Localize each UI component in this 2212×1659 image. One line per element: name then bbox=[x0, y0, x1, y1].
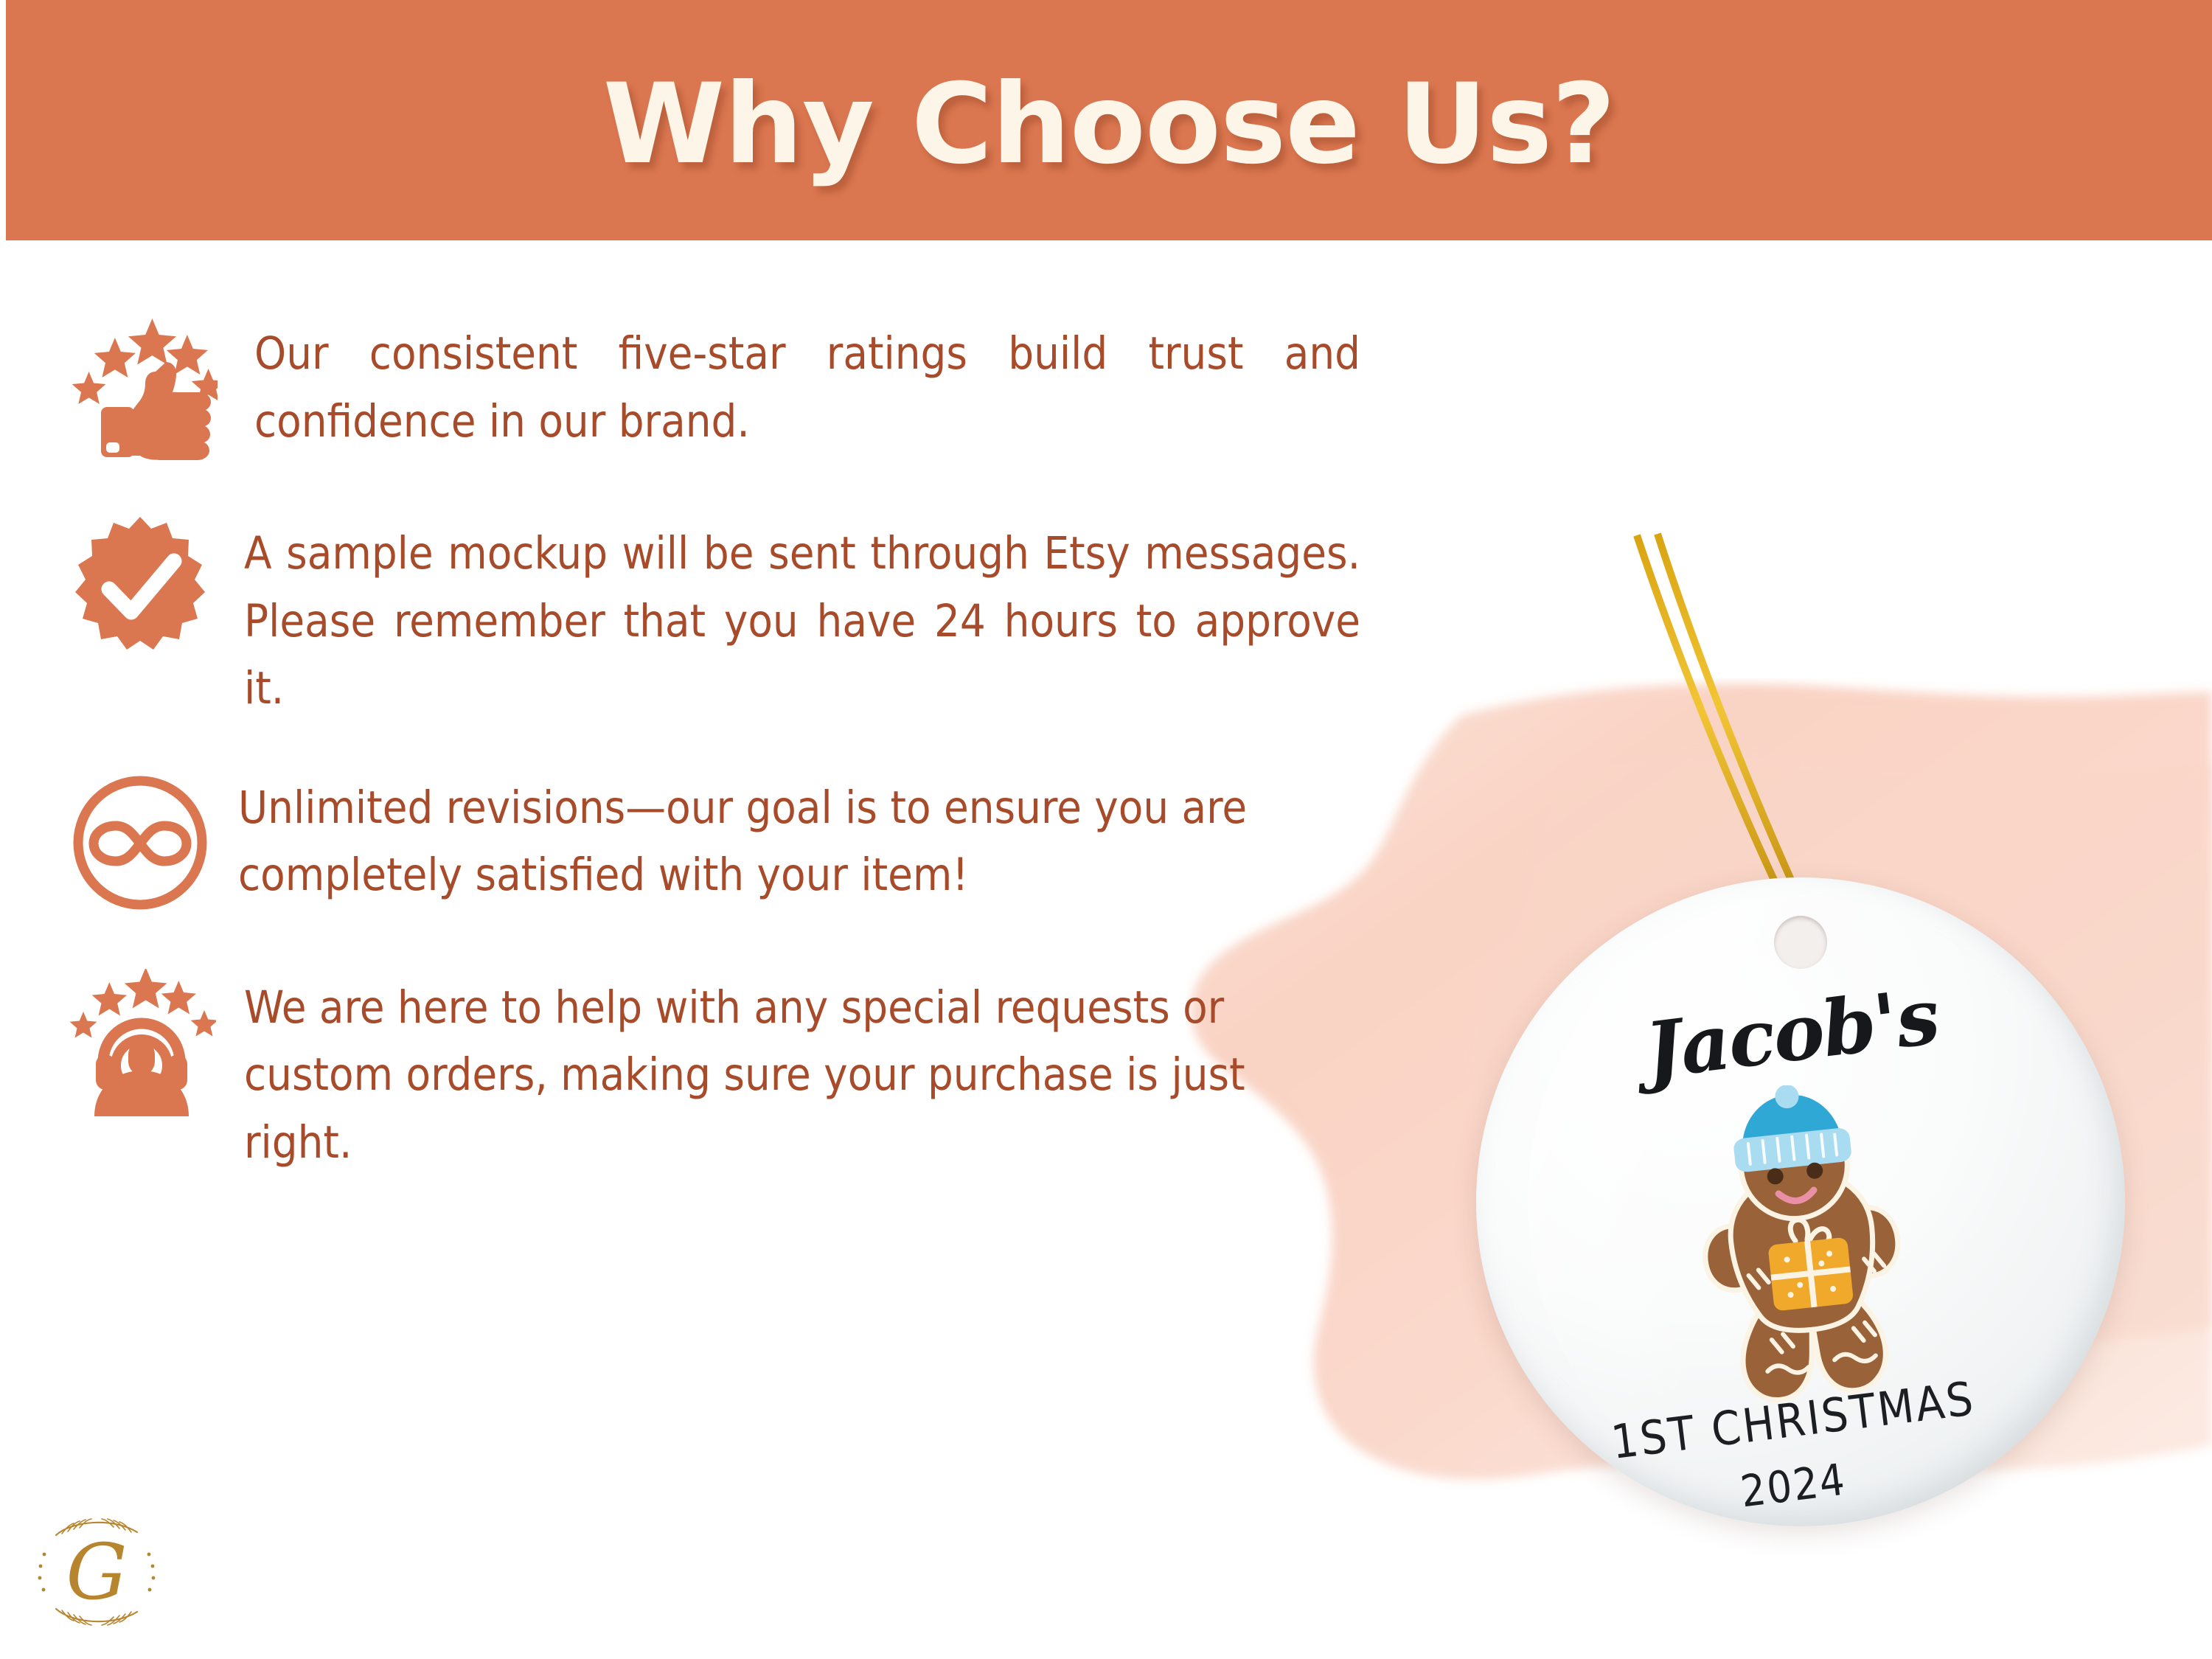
feature-item-unlimited-revisions: Unlimited revisions—our goal is to ensur… bbox=[0, 764, 1512, 922]
feature-text: A sample mockup will be sent through Ets… bbox=[225, 509, 1375, 723]
g-monogram-wreath-logo: G bbox=[27, 1506, 167, 1638]
slide-canvas: Why Choose Us? bbox=[0, 0, 2212, 1659]
ornament-hole bbox=[1774, 916, 1827, 969]
page-title: Why Choose Us? bbox=[603, 69, 1615, 180]
five-star-thumbs-up-icon bbox=[55, 310, 225, 468]
feature-item-mockup-approval: A sample mockup will be sent through Ets… bbox=[0, 509, 1512, 723]
infinity-circle-icon bbox=[55, 764, 225, 922]
ornament-personalized-name: Jacob's bbox=[1582, 963, 2003, 1103]
gingerbread-man-with-gift-icon bbox=[1652, 1085, 1954, 1410]
feature-item-custom-support: We are here to help with any special req… bbox=[0, 964, 1512, 1177]
feature-text: We are here to help with any special req… bbox=[225, 964, 1371, 1177]
product-ornament-mockup: Jacob's bbox=[1445, 531, 2212, 1512]
feature-item-ratings: Our consistent five-star ratings build t… bbox=[0, 310, 1512, 468]
feature-list: Our consistent five-star ratings build t… bbox=[0, 310, 1512, 1217]
verified-badge-check-icon bbox=[55, 509, 225, 668]
ornament-disc: Jacob's bbox=[1476, 877, 2125, 1526]
customer-support-agent-stars-icon bbox=[55, 964, 225, 1122]
logo-letter: G bbox=[66, 1527, 127, 1617]
feature-text: Our consistent five-star ratings build t… bbox=[225, 310, 1375, 455]
header-banner: Why Choose Us? bbox=[6, 0, 2212, 240]
feature-text: Unlimited revisions—our goal is to ensur… bbox=[225, 764, 1394, 909]
